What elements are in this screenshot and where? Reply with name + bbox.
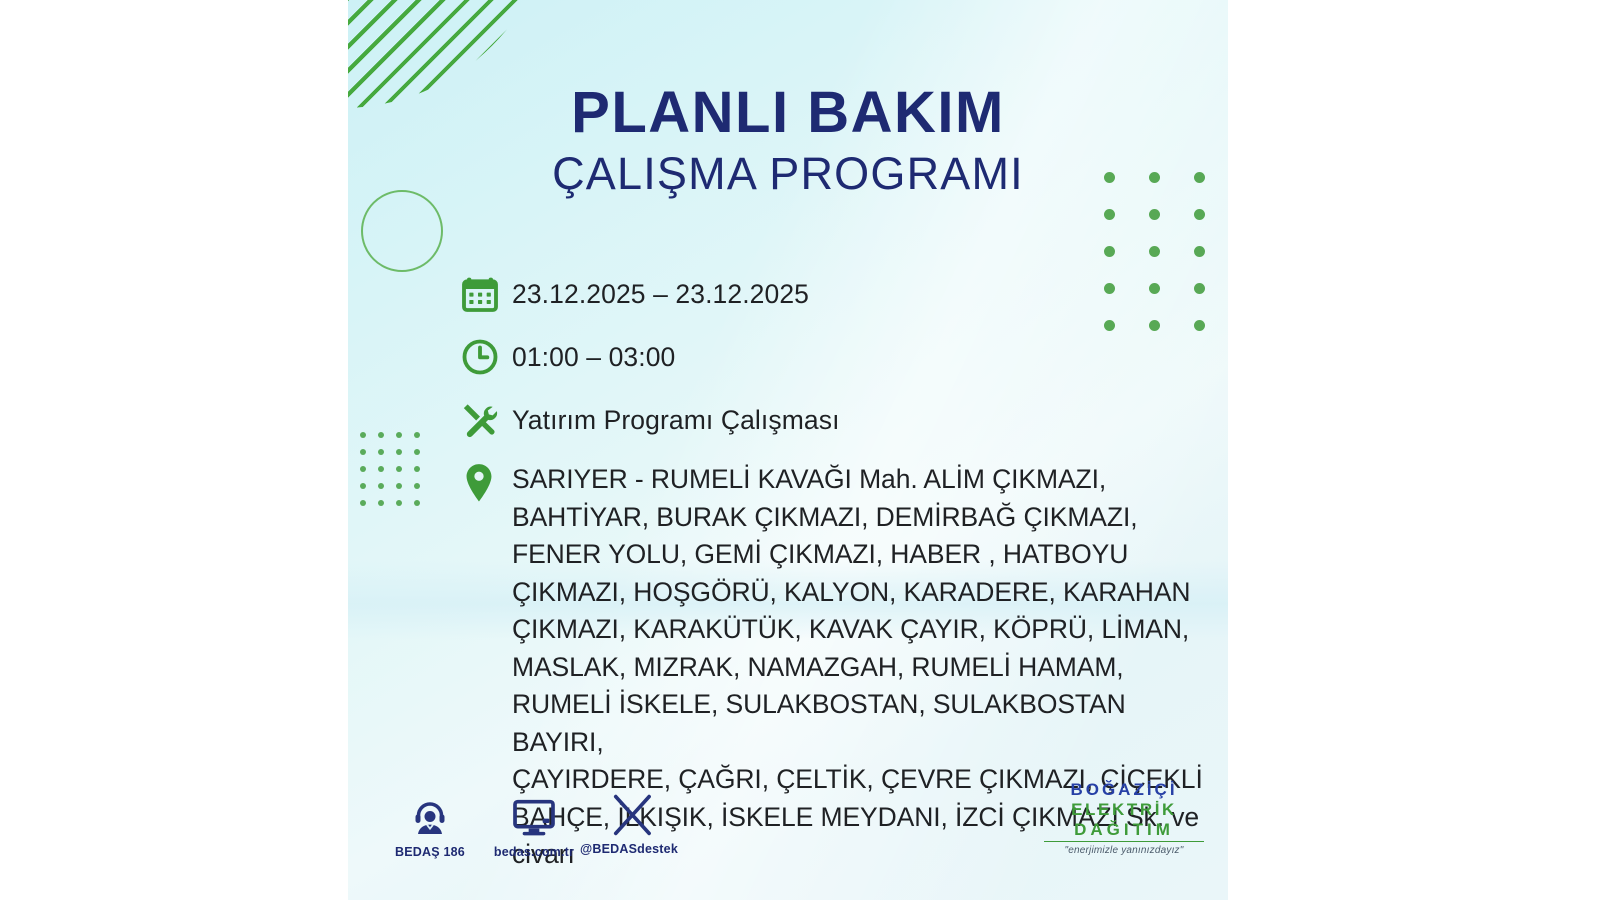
logo-line-3: DAĞITIM <box>1044 821 1204 842</box>
date-range-value: 23.12.2025 – 23.12.2025 <box>512 272 809 316</box>
title-block: PLANLI BAKIM ÇALIŞMA PROGRAMI <box>348 84 1228 197</box>
dot-grid-left-decoration <box>360 432 432 517</box>
page-title: PLANLI BAKIM <box>348 84 1228 142</box>
footer-phone[interactable]: BEDAŞ 186 <box>378 798 482 859</box>
time-range-value: 01:00 – 03:00 <box>512 335 675 379</box>
logo-tagline: "enerjimizle yanınızdayız" <box>1044 846 1204 856</box>
planned-maintenance-card: PLANLI BAKIM ÇALIŞMA PROGRAMI <box>348 0 1228 900</box>
poster-stage: PLANLI BAKIM ÇALIŞMA PROGRAMI <box>0 0 1600 900</box>
clock-icon <box>460 335 512 379</box>
work-type-value: Yatırım Programı Çalışması <box>512 398 840 442</box>
footer-website-label: bedas.com.tr <box>494 845 574 859</box>
logo-line-1: BOĞAZİÇİ <box>1044 781 1204 798</box>
headset-support-icon <box>378 798 482 841</box>
info-row-work-type: Yatırım Programı Çalışması <box>460 398 1220 442</box>
footer-phone-label: BEDAŞ 186 <box>395 845 465 859</box>
tools-icon <box>460 398 512 442</box>
info-row-date: 23.12.2025 – 23.12.2025 <box>460 272 1220 316</box>
calendar-icon <box>460 272 512 316</box>
location-pin-icon <box>460 461 512 501</box>
x-twitter-icon-overlay <box>610 792 656 838</box>
page-subtitle: ÇALIŞMA PROGRAMI <box>348 150 1228 197</box>
info-row-time: 01:00 – 03:00 <box>460 335 1220 379</box>
bedas-logo: BOĞAZİÇİ ELEKTRİK DAĞITIM "enerjimizle y… <box>1044 781 1204 856</box>
footer-social-label: @BEDASdestek <box>580 842 678 856</box>
circle-outline-decoration <box>361 190 443 272</box>
logo-line-2: ELEKTRİK <box>1044 801 1204 818</box>
footer-bar: BEDAŞ 186 bedas.com.tr @BEDASdestek <box>348 798 1228 882</box>
